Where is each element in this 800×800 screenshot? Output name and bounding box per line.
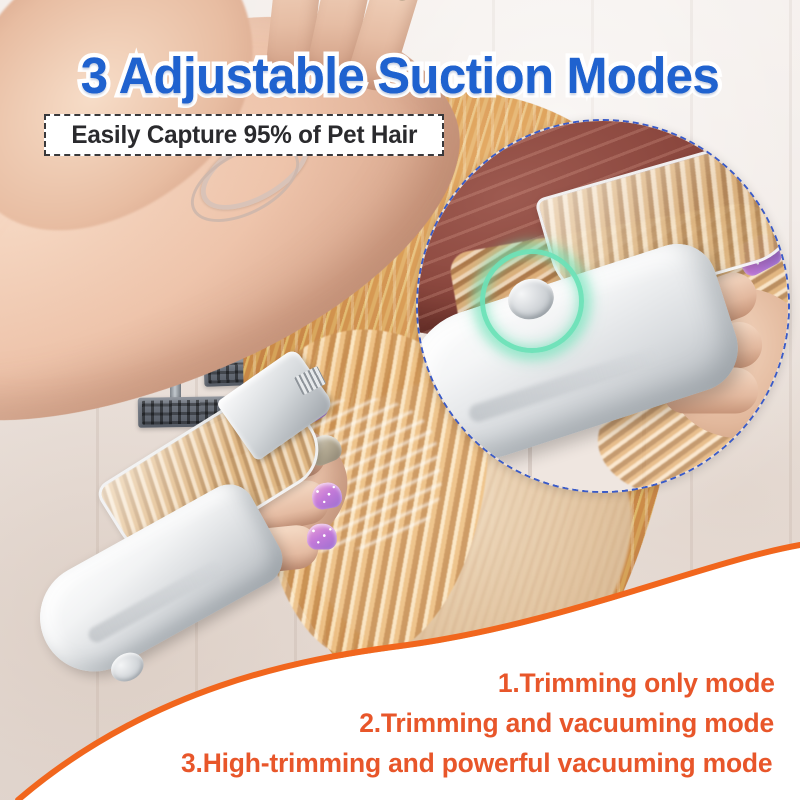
mode-item-3: 3.High-trimming and powerful vacuuming m…	[181, 748, 772, 779]
power-glow-ring	[480, 249, 584, 353]
mode-item-2: 2.Trimming and vacuuming mode	[359, 708, 774, 739]
subtitle-text: Easily Capture 95% of Pet Hair	[71, 121, 417, 150]
power-button	[106, 647, 149, 687]
product-marketing-image: 3 Adjustable Suction Modes 3 Adjustable …	[0, 0, 800, 800]
subtitle-box: Easily Capture 95% of Pet Hair	[44, 114, 444, 156]
page-headline-fill: 3 Adjustable Suction Modes	[16, 46, 784, 105]
mode-item-1: 1.Trimming only mode	[498, 668, 775, 699]
fingernail-gold	[380, 0, 421, 3]
zoom-inset-circle	[416, 119, 790, 493]
